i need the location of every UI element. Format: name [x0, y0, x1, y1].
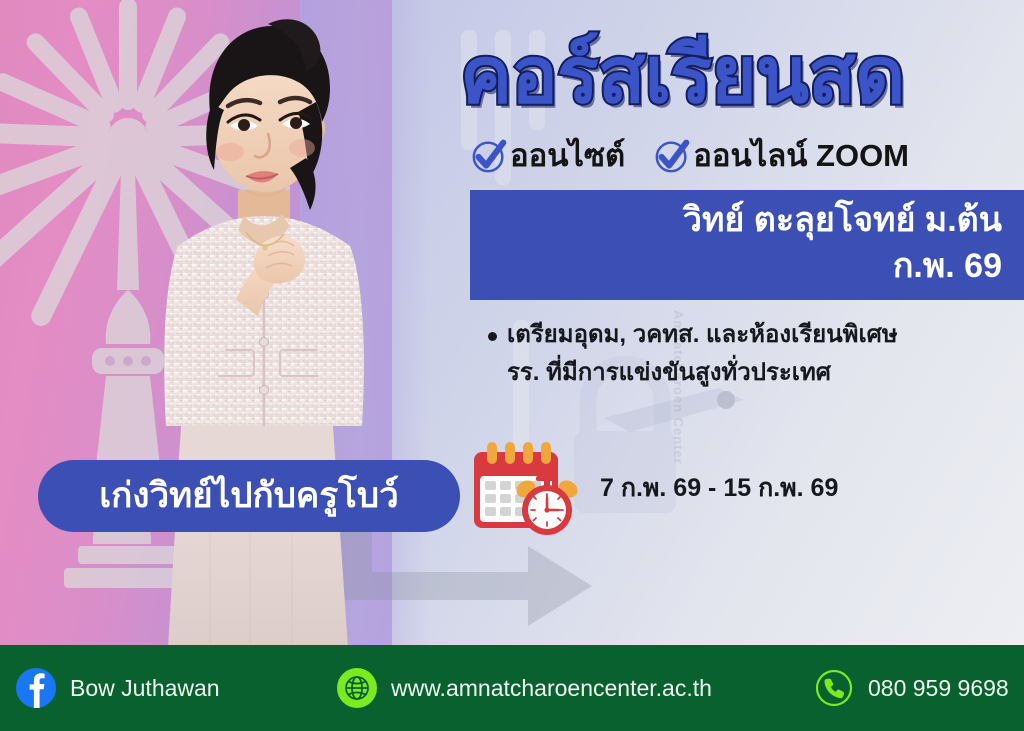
bullet-list: เตรียมอุดม, วคทส. และห้องเรียนพิเศษ รร. …: [488, 316, 1008, 392]
mode-online: ออนไลน์ ZOOM: [653, 137, 909, 175]
slogan-badge: เก่งวิทย์ไปกับครูโบว์: [38, 460, 460, 532]
bullet-text-line-2: รร. ที่มีการแข่งขันสูงทั่วประเทศ: [507, 359, 831, 386]
check-circle-icon: [470, 137, 508, 175]
footer-phone-label: 080 959 9698: [868, 675, 1009, 702]
check-circle-icon: [653, 137, 691, 175]
instructor-photo: [120, 0, 410, 648]
promo-poster: Amnatcharoen Center: [0, 0, 1024, 731]
course-title-line-2: ก.พ. 69: [893, 243, 1002, 289]
mode-onsite-label: ออนไซต์: [510, 137, 625, 175]
course-date-row: 7 ก.พ. 69 - 15 ก.พ. 69: [470, 440, 838, 536]
course-date-text: 7 ก.พ. 69 - 15 ก.พ. 69: [600, 468, 838, 508]
bullet-item: เตรียมอุดม, วคทส. และห้องเรียนพิเศษ รร. …: [488, 316, 1008, 392]
footer-facebook-label: Bow Juthawan: [70, 675, 220, 702]
footer-facebook[interactable]: Bow Juthawan: [16, 668, 220, 708]
globe-icon: [337, 668, 377, 708]
mode-online-label: ออนไลน์ ZOOM: [693, 137, 909, 175]
calendar-clock-icon: [470, 440, 578, 536]
bullet-dot-icon: [488, 332, 497, 341]
phone-icon: [814, 668, 854, 708]
bullet-text: เตรียมอุดม, วคทส. และห้องเรียนพิเศษ รร. …: [507, 316, 898, 392]
facebook-icon: [16, 668, 56, 708]
bullet-text-line-1: เตรียมอุดม, วคทส. และห้องเรียนพิเศษ: [507, 321, 898, 348]
mode-onsite: ออนไซต์: [470, 137, 625, 175]
footer-phone[interactable]: 080 959 9698: [814, 668, 1009, 708]
course-title-box: วิทย์ ตะลุยโจทย์ ม.ต้น ก.พ. 69: [470, 190, 1024, 300]
headline-title: คอร์สเรียนสด: [460, 33, 1016, 117]
slogan-badge-text: เก่งวิทย์ไปกับครูโบว์: [99, 460, 399, 532]
contact-footer: Bow Juthawan www.amnatcharoencenter.ac.t…: [0, 645, 1024, 731]
delivery-modes-row: ออนไซต์ ออนไลน์ ZOOM: [470, 134, 1024, 178]
footer-website[interactable]: www.amnatcharoencenter.ac.th: [337, 668, 712, 708]
course-title-line-1: วิทย์ ตะลุยโจทย์ ม.ต้น: [683, 197, 1002, 243]
footer-website-label: www.amnatcharoencenter.ac.th: [391, 675, 712, 702]
